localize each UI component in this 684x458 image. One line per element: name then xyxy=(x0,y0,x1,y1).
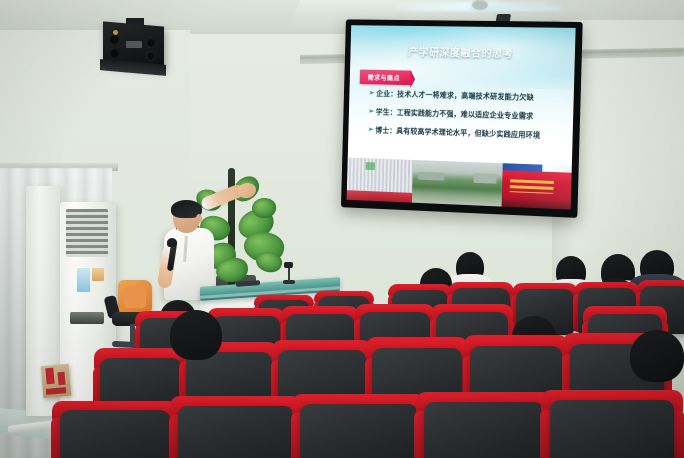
box-marking xyxy=(45,368,54,385)
slide-section-tag: 需求与痛点 xyxy=(359,69,411,85)
list-item: ➢ 学生：工程实践能力不强，难以适应企业专业需求 xyxy=(368,108,561,122)
audience-person xyxy=(456,252,484,282)
slide-photo-conference-stage xyxy=(502,164,572,210)
microphone-head-icon xyxy=(167,238,177,247)
audience-person xyxy=(640,250,674,284)
ac-vent-grille xyxy=(66,209,108,257)
box-marking xyxy=(57,372,65,386)
slide-photo-campus-aerial xyxy=(412,160,503,206)
auditorium-seat[interactable] xyxy=(60,410,170,458)
speaker-driver-icon xyxy=(109,48,120,59)
list-item: ➢ 博士：具有较高学术理论水平，但缺少实践应用环境 xyxy=(368,127,561,141)
seat-back xyxy=(300,404,418,458)
ac-control-panel[interactable] xyxy=(70,312,104,324)
speaker-driver-icon xyxy=(146,51,156,61)
speaker-led-icon xyxy=(113,30,118,35)
ac-energy-label xyxy=(77,268,90,292)
audience-person-foreground xyxy=(630,330,684,382)
person-head xyxy=(170,310,222,360)
bullet-text: 博士：具有较高学术理论水平，但缺少实践应用环境 xyxy=(375,127,540,140)
speaker-badge xyxy=(126,41,142,48)
seat-back xyxy=(424,402,544,458)
desk-mic-stem xyxy=(288,266,290,282)
audience-person-foreground xyxy=(170,310,222,360)
speaker-driver-icon xyxy=(146,38,156,48)
slide-photo-strip xyxy=(347,158,572,210)
slide-photo-building-with-flags xyxy=(347,158,413,203)
auditorium-seat[interactable] xyxy=(300,404,418,458)
office-chair-cushion xyxy=(124,286,146,308)
wall-display-tv[interactable]: 产学研深度融合的思考 需求与痛点 ➢ 企业：技术人才一将难求，高端技术研发能力欠… xyxy=(341,19,583,218)
bullet-text: 学生：工程实践能力不强，难以适应企业专业需求 xyxy=(376,109,534,121)
bullet-text: 企业：技术人才一将难求，高端技术研发能力欠缺 xyxy=(376,90,534,102)
presenter-ear xyxy=(196,214,202,223)
ceiling-fixture-icon xyxy=(472,0,488,10)
speaker-driver-icon xyxy=(109,34,120,45)
auditorium-seat[interactable] xyxy=(424,402,544,458)
lecture-hall-photo: 产学研深度融合的思考 需求与痛点 ➢ 企业：技术人才一将难求，高端技术研发能力欠… xyxy=(0,0,684,458)
seat-back xyxy=(178,406,294,458)
desk-mic-head-icon xyxy=(284,262,293,268)
tv-screen: 产学研深度融合的思考 需求与痛点 ➢ 企业：技术人才一将难求，高端技术研发能力欠… xyxy=(347,25,576,209)
presentation-slide: 产学研深度融合的思考 需求与痛点 ➢ 企业：技术人才一将难求，高端技术研发能力欠… xyxy=(347,25,576,209)
bullet-arrow-icon: ➢ xyxy=(368,108,374,116)
bullet-arrow-icon: ➢ xyxy=(368,127,374,135)
list-item: ➢ 企业：技术人才一将难求，高端技术研发能力欠缺 xyxy=(369,90,562,103)
person-head xyxy=(630,330,684,382)
auditorium-seat[interactable] xyxy=(178,406,294,458)
slide-bullet-list: ➢ 企业：技术人才一将难求，高端技术研发能力欠缺 ➢ 学生：工程实践能力不强，难… xyxy=(368,90,563,151)
seat-back xyxy=(60,410,170,458)
auditorium-seat[interactable] xyxy=(550,400,674,458)
ac-brand-label xyxy=(92,268,104,281)
bullet-arrow-icon: ➢ xyxy=(369,90,375,98)
seat-back xyxy=(550,400,674,458)
